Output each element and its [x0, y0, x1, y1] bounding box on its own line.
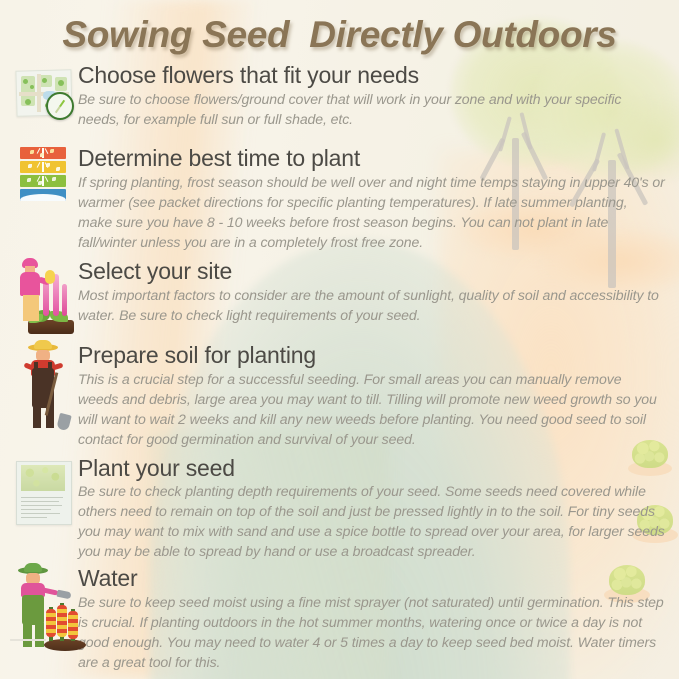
- step-icon-slot: [6, 62, 78, 102]
- step-item-prepare-soil: Prepare soil for planting This is a cruc…: [0, 342, 679, 449]
- step-body: Be sure to choose flowers/ground cover t…: [78, 89, 665, 129]
- step-item-water: Water Be sure to keep seed moist using a…: [0, 565, 679, 672]
- step-icon-slot: [6, 145, 78, 185]
- garden-plan-compass-icon: [14, 68, 72, 118]
- step-body: Most important factors to consider are t…: [78, 285, 665, 325]
- step-icon-slot: [6, 565, 78, 605]
- step-heading: Water: [78, 566, 665, 591]
- step-item-choose-flowers: Choose flowers that fit your needs Be su…: [0, 62, 679, 138]
- step-text: Water Be sure to keep seed moist using a…: [78, 565, 665, 672]
- flower-planter-icon: [12, 258, 78, 338]
- step-body: If spring planting, frost season should …: [78, 172, 665, 252]
- step-text: Plant your seed Be sure to check plantin…: [78, 455, 665, 562]
- watering-gardener-icon: [12, 565, 86, 651]
- step-heading: Determine best time to plant: [78, 146, 665, 171]
- page-title: Sowing Seed Directly Outdoors: [0, 14, 679, 56]
- step-text: Prepare soil for planting This is a cruc…: [78, 342, 665, 449]
- compass-icon: [46, 92, 74, 120]
- step-icon-slot: [6, 258, 78, 298]
- gardener-shovel-icon: [20, 342, 76, 434]
- step-icon-slot: [6, 342, 78, 382]
- step-heading: Prepare soil for planting: [78, 343, 665, 368]
- steps-list: Choose flowers that fit your needs Be su…: [0, 62, 679, 672]
- step-text: Select your site Most important factors …: [78, 258, 665, 325]
- step-body: Be sure to check planting depth requirem…: [78, 481, 665, 561]
- step-item-determine-time: Determine best time to plant If spring p…: [0, 145, 679, 252]
- step-heading: Choose flowers that fit your needs: [78, 63, 665, 88]
- step-body: Be sure to keep seed moist using a fine …: [78, 592, 665, 672]
- step-text: Determine best time to plant If spring p…: [78, 145, 665, 252]
- infographic-poster: Sowing Seed Directly Outdoors: [0, 0, 679, 679]
- step-body: This is a crucial step for a successful …: [78, 369, 665, 449]
- seed-packet-icon: [16, 461, 72, 525]
- step-icon-slot: [6, 455, 78, 495]
- step-heading: Plant your seed: [78, 456, 665, 481]
- step-item-select-site: Select your site Most important factors …: [0, 258, 679, 336]
- step-heading: Select your site: [78, 259, 665, 284]
- four-seasons-icon: [20, 147, 66, 203]
- step-text: Choose flowers that fit your needs Be su…: [78, 62, 665, 129]
- step-item-plant-seed: Plant your seed Be sure to check plantin…: [0, 455, 679, 562]
